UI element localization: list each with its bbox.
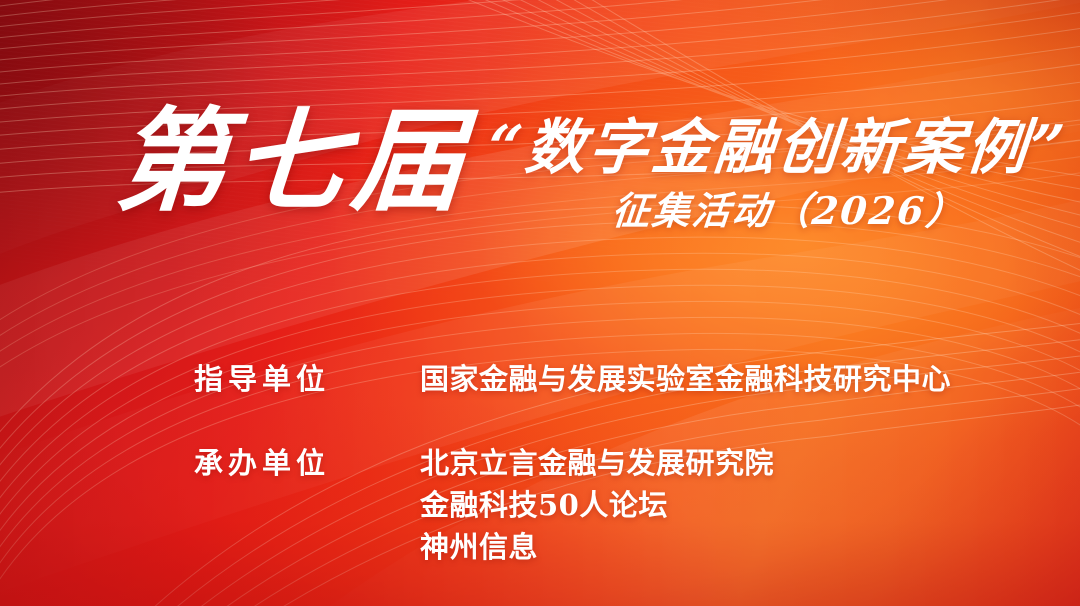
credit-row: 承办单位北京立言金融与发展研究院金融科技50人论坛神州信息 bbox=[194, 442, 1034, 568]
poster-quoted-title: “数字金融创新案例” bbox=[485, 118, 1069, 178]
credit-value: 神州信息 bbox=[420, 526, 1034, 568]
credit-label: 指导单位 bbox=[194, 358, 420, 400]
poster-main-title: 第七届 bbox=[112, 106, 474, 218]
credit-row-spacer bbox=[194, 400, 1034, 442]
credit-value: 国家金融与发展实验室金融科技研究中心 bbox=[420, 358, 1034, 400]
poster-canvas: 第七届 “数字金融创新案例” 征集活动（2026） 指导单位国家金融与发展实验室… bbox=[0, 0, 1080, 606]
credit-value-list: 国家金融与发展实验室金融科技研究中心 bbox=[420, 358, 1034, 400]
credit-value: 金融科技50人论坛 bbox=[420, 484, 1034, 526]
credits-block: 指导单位国家金融与发展实验室金融科技研究中心承办单位北京立言金融与发展研究院金融… bbox=[194, 358, 1034, 568]
poster-subtitle: 征集活动（2026） bbox=[610, 192, 967, 230]
credit-value-list: 北京立言金融与发展研究院金融科技50人论坛神州信息 bbox=[420, 442, 1034, 568]
credit-row: 指导单位国家金融与发展实验室金融科技研究中心 bbox=[194, 358, 1034, 400]
credit-label: 承办单位 bbox=[194, 442, 420, 484]
credit-value: 北京立言金融与发展研究院 bbox=[420, 442, 1034, 484]
